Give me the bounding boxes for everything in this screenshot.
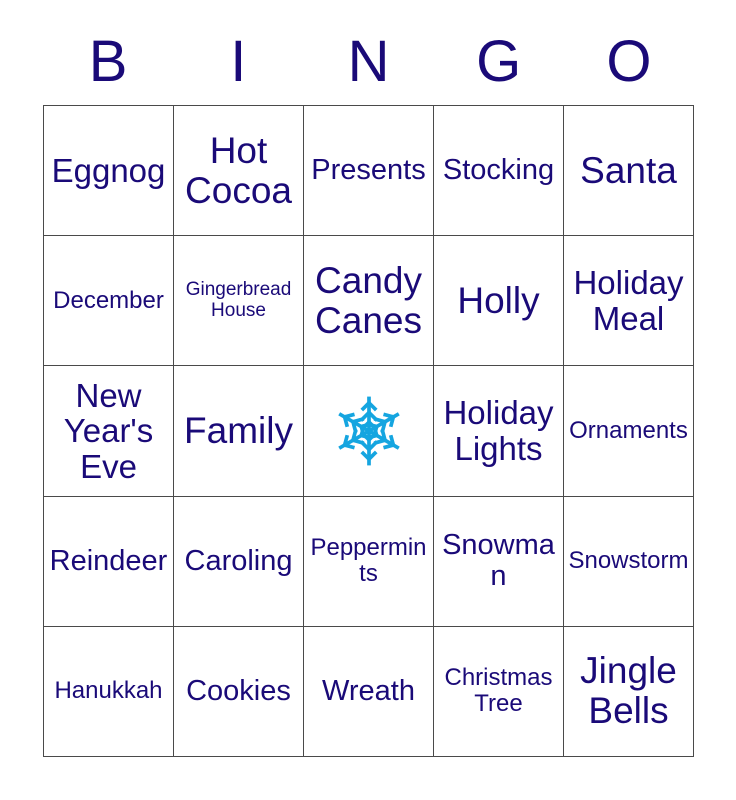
bingo-cell-label: Hot Cocoa xyxy=(178,131,299,211)
bingo-cell[interactable]: Presents xyxy=(304,106,434,236)
bingo-cell-label: Jingle Bells xyxy=(568,651,689,731)
bingo-cell[interactable]: Hot Cocoa xyxy=(174,106,304,236)
bingo-cell[interactable]: Santa xyxy=(564,106,694,236)
bingo-cell-label: Holiday Meal xyxy=(568,265,689,336)
bingo-cell[interactable]: Wreath xyxy=(304,627,434,757)
bingo-cell[interactable]: Holiday Lights xyxy=(434,366,564,496)
snowflake-icon xyxy=(332,394,406,468)
bingo-cell[interactable]: Snowstorm xyxy=(564,497,694,627)
bingo-header: B I N G O xyxy=(43,24,694,100)
bingo-cell-label: Snowstorm xyxy=(568,548,689,574)
bingo-cell[interactable]: Family xyxy=(174,366,304,496)
bingo-cell-label: Caroling xyxy=(178,546,299,577)
bingo-cell[interactable]: Peppermints xyxy=(304,497,434,627)
bingo-grid: EggnogHot CocoaPresentsStockingSantaDece… xyxy=(43,105,694,757)
bingo-cell[interactable]: Caroling xyxy=(174,497,304,627)
bingo-cell[interactable]: Gingerbread House xyxy=(174,236,304,366)
bingo-cell-label: Peppermints xyxy=(308,535,429,587)
bingo-cell[interactable]: Stocking xyxy=(434,106,564,236)
bingo-cell[interactable]: New Year's Eve xyxy=(44,366,174,496)
bingo-cell[interactable]: Reindeer xyxy=(44,497,174,627)
bingo-cell-label: Santa xyxy=(568,151,689,191)
bingo-cell[interactable]: Candy Canes xyxy=(304,236,434,366)
bingo-cell[interactable]: Cookies xyxy=(174,627,304,757)
bingo-cell-label: Family xyxy=(178,411,299,451)
header-letter-b: B xyxy=(43,24,173,100)
bingo-cell-label: Snowman xyxy=(438,530,559,593)
bingo-cell-label: Cookies xyxy=(178,676,299,707)
header-letter-i: I xyxy=(173,24,303,100)
bingo-cell-label: Eggnog xyxy=(48,153,169,189)
bingo-cell[interactable]: Holiday Meal xyxy=(564,236,694,366)
bingo-cell[interactable]: Christmas Tree xyxy=(434,627,564,757)
bingo-cell[interactable]: Ornaments xyxy=(564,366,694,496)
bingo-cell[interactable]: Jingle Bells xyxy=(564,627,694,757)
header-letter-n: N xyxy=(303,24,433,100)
bingo-cell-label: Ornaments xyxy=(568,418,689,444)
bingo-cell-label: New Year's Eve xyxy=(48,378,169,485)
bingo-cell-label: Candy Canes xyxy=(308,261,429,341)
bingo-cell-label: Stocking xyxy=(438,155,559,186)
bingo-cell-label: Hanukkah xyxy=(48,678,169,704)
bingo-free-space-cell[interactable] xyxy=(304,366,434,496)
bingo-cell[interactable]: December xyxy=(44,236,174,366)
bingo-cell[interactable]: Eggnog xyxy=(44,106,174,236)
bingo-cell-label: Holiday Lights xyxy=(438,395,559,466)
bingo-cell-label: Presents xyxy=(308,155,429,186)
bingo-card: B I N G O EggnogHot CocoaPresentsStockin… xyxy=(0,0,736,800)
bingo-cell-label: December xyxy=(48,288,169,314)
bingo-cell[interactable]: Hanukkah xyxy=(44,627,174,757)
bingo-cell-label: Christmas Tree xyxy=(438,665,559,717)
header-letter-o: O xyxy=(564,24,694,100)
bingo-cell-label: Wreath xyxy=(308,676,429,707)
bingo-cell-label: Reindeer xyxy=(48,546,169,577)
bingo-cell-label: Gingerbread House xyxy=(178,280,299,321)
header-letter-g: G xyxy=(434,24,564,100)
bingo-cell[interactable]: Holly xyxy=(434,236,564,366)
bingo-cell[interactable]: Snowman xyxy=(434,497,564,627)
bingo-cell-label: Holly xyxy=(438,281,559,321)
